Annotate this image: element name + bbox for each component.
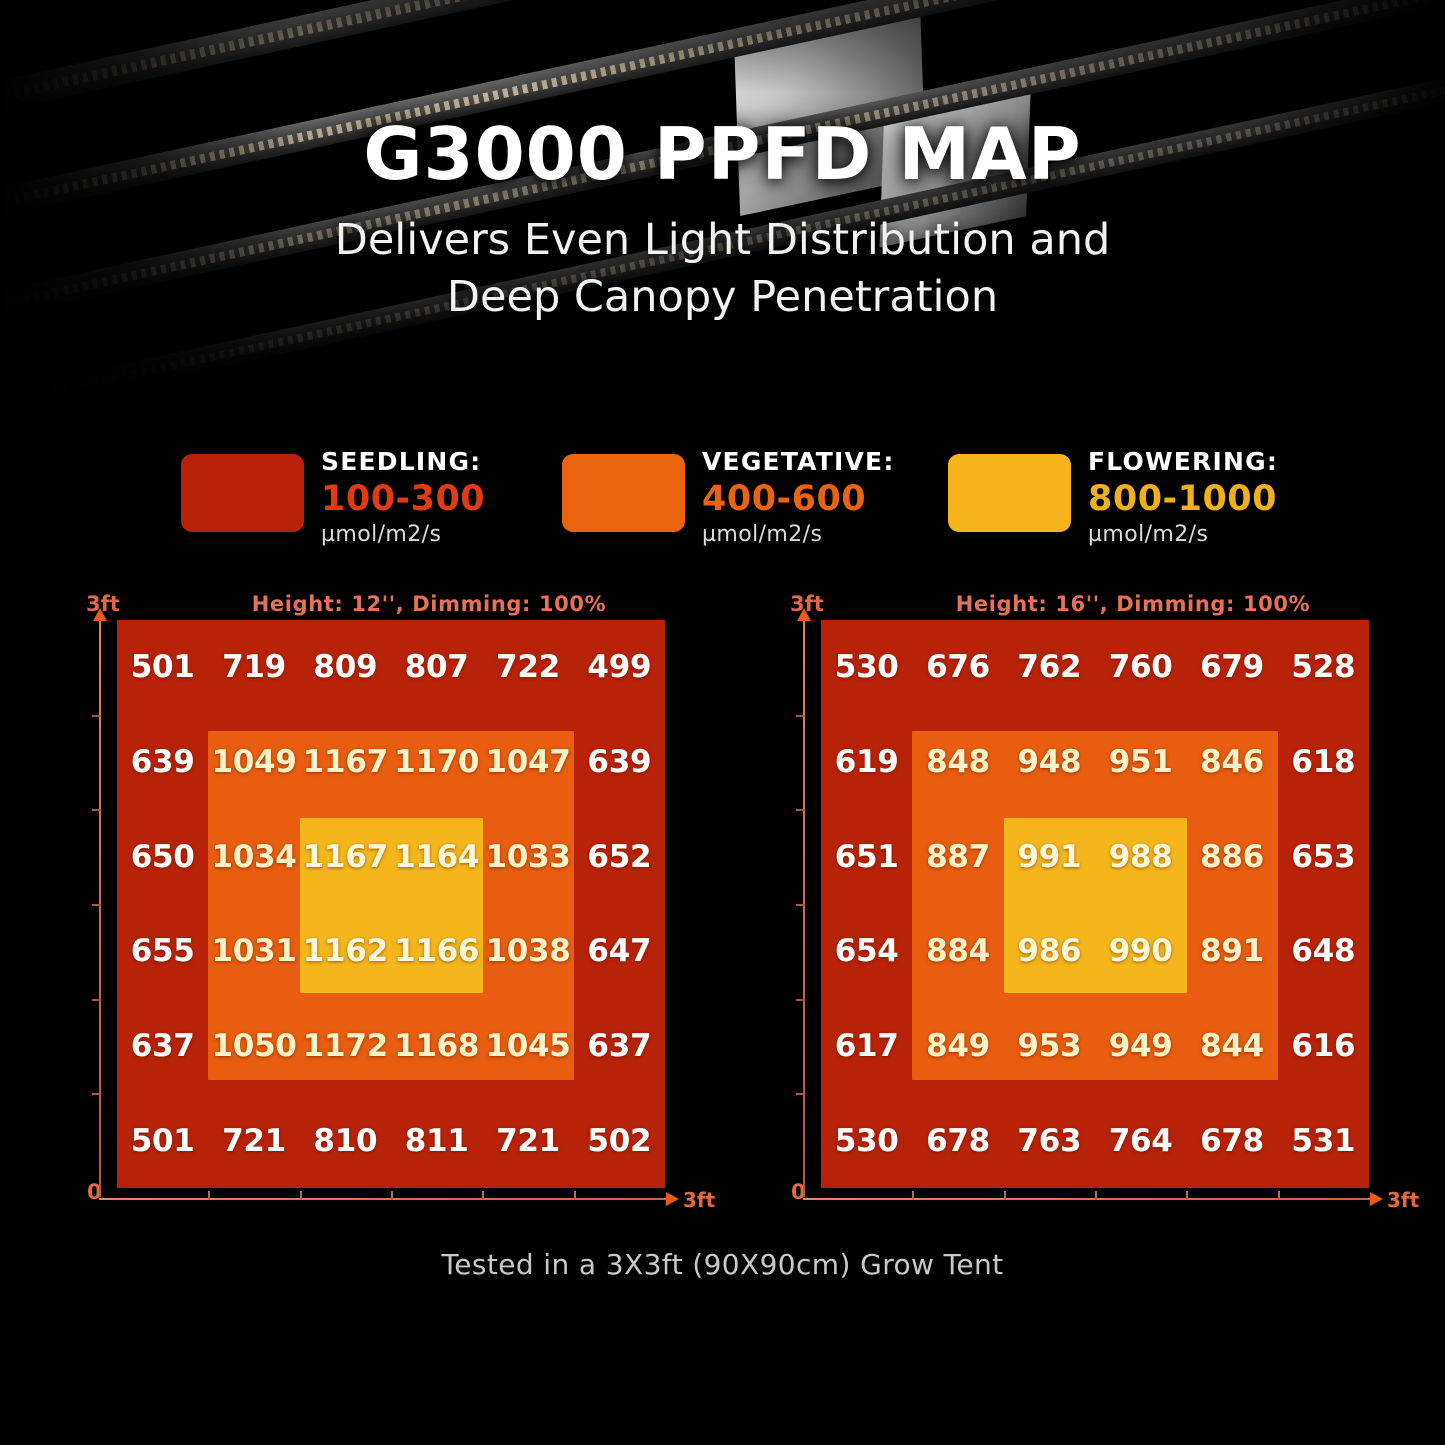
heatmap-cell: 762 [1004,620,1095,715]
y-axis-tick [92,999,101,1001]
heatmap-cell: 891 [1186,904,1277,999]
ppfd-map-12in: Height: 12'', Dimming: 100% 3ft 0 3ft 50… [86,592,726,1237]
ppfd-map-16in: Height: 16'', Dimming: 100% 3ft 0 3ft 53… [790,592,1430,1237]
heatmap-cell: 1164 [391,809,482,904]
x-axis-line [99,1198,672,1200]
legend-item-seedling: SEEDLING: 100-300 µmol/m2/s [181,449,485,541]
y-axis-line [803,619,805,1197]
heatmap-cell: 637 [574,999,665,1094]
x-axis-tick [1004,1191,1006,1200]
legend-stage-label: VEGETATIVE: [702,449,895,474]
heatmap-cell: 655 [117,904,208,999]
heatmap-cell: 679 [1186,620,1277,715]
heatmap-cell: 678 [912,1093,1003,1188]
heatmap-cell: 1049 [208,715,299,810]
heatmap-cell: 528 [1278,620,1369,715]
legend-unit-label: µmol/m2/s [321,524,485,546]
heatmap-cell: 1050 [208,999,299,1094]
heatmap-cell: 531 [1278,1093,1369,1188]
x-axis-tick [574,1191,576,1200]
heatmap-cell: 1167 [300,715,391,810]
x-axis-tick [300,1191,302,1200]
title-block: G3000 PPFD MAP Delivers Even Light Distr… [0,118,1445,326]
x-axis-tick [482,1191,484,1200]
heatmap-cell: 721 [208,1093,299,1188]
heatmap-cell: 651 [821,809,912,904]
heatmap-cell: 846 [1186,715,1277,810]
legend-unit-label: µmol/m2/s [702,524,895,546]
heatmap-cell: 654 [821,904,912,999]
heatmap-cell: 617 [821,999,912,1094]
page-subtitle: Delivers Even Light Distribution and Dee… [0,212,1445,326]
legend-text-seedling: SEEDLING: 100-300 µmol/m2/s [321,449,485,546]
heatmap-cell: 953 [1004,999,1095,1094]
heatmap-grid: 5017198098077224996391049116711701047639… [117,620,665,1188]
heatmap-cell: 1168 [391,999,482,1094]
legend-item-flowering: FLOWERING: 800-1000 µmol/m2/s [948,449,1278,541]
heatmap-cell: 1170 [391,715,482,810]
x-axis-line [803,1198,1376,1200]
heatmap-cell: 619 [821,715,912,810]
heatmap-cell: 1033 [482,809,573,904]
legend-swatch-vegetative [562,454,685,532]
heatmap-cell: 719 [208,620,299,715]
x-axis-arrow-icon [1370,1192,1383,1206]
y-axis-tick [92,809,101,811]
map-caption: Height: 12'', Dimming: 100% [134,592,724,616]
legend-item-vegetative: VEGETATIVE: 400-600 µmol/m2/s [562,449,895,541]
heatmap-cells: 5017198098077224996391049116711701047639… [117,620,665,1188]
heatmap-cell: 676 [912,620,1003,715]
y-axis-tick [796,904,805,906]
heatmap-cell: 1162 [300,904,391,999]
heatmap-cell: 1172 [300,999,391,1094]
heatmap-cell: 988 [1095,809,1186,904]
heatmap-cell: 811 [391,1093,482,1188]
heatmap-cell: 1038 [482,904,573,999]
legend-text-vegetative: VEGETATIVE: 400-600 µmol/m2/s [702,449,895,546]
heatmap-cell: 652 [574,809,665,904]
footer-note: Tested in a 3X3ft (90X90cm) Grow Tent [0,1248,1445,1281]
heatmap-cell: 530 [821,1093,912,1188]
heatmap-cell: 618 [1278,715,1369,810]
heatmap-cell: 807 [391,620,482,715]
legend-range-value: 400-600 [702,480,895,519]
heatmap-cell: 884 [912,904,1003,999]
heatmap-cell: 678 [1186,1093,1277,1188]
heatmap-cell: 648 [1278,904,1369,999]
subtitle-line-2: Deep Canopy Penetration [0,269,1445,326]
heatmap-cell: 639 [117,715,208,810]
heatmap-cell: 647 [574,904,665,999]
heatmap-cell: 637 [117,999,208,1094]
map-caption: Height: 16'', Dimming: 100% [838,592,1428,616]
heatmap-cell: 650 [117,809,208,904]
heatmap-grid: 5306767627606795286198489489518466186518… [821,620,1369,1188]
heatmap-cell: 722 [482,620,573,715]
heatmap-cell: 1166 [391,904,482,999]
heatmap-cell: 639 [574,715,665,810]
legend-stage-label: FLOWERING: [1088,449,1278,474]
heatmap-cell: 760 [1095,620,1186,715]
heatmap-cell: 886 [1186,809,1277,904]
x-axis-tick [208,1191,210,1200]
heatmap-cell: 949 [1095,999,1186,1094]
page-title: G3000 PPFD MAP [0,118,1445,190]
heatmap-cell: 991 [1004,809,1095,904]
y-axis-arrow-icon [93,608,107,621]
y-axis-tick [796,999,805,1001]
legend-stage-label: SEEDLING: [321,449,485,474]
heatmap-cell: 986 [1004,904,1095,999]
y-axis-tick [92,904,101,906]
x-axis-tick [1095,1191,1097,1200]
heatmap-cell: 887 [912,809,1003,904]
heatmap-cell: 764 [1095,1093,1186,1188]
legend-unit-label: µmol/m2/s [1088,524,1278,546]
heatmap-cell: 502 [574,1093,665,1188]
legend-range-value: 100-300 [321,480,485,519]
y-axis-arrow-icon [797,608,811,621]
x-axis-tick [391,1191,393,1200]
heatmap-cells: 5306767627606795286198489489518466186518… [821,620,1369,1188]
heatmap-cell: 653 [1278,809,1369,904]
heatmap-cell: 951 [1095,715,1186,810]
x-axis-max-label: 3ft [683,1188,715,1212]
x-axis-max-label: 3ft [1387,1188,1419,1212]
y-axis-tick [796,809,805,811]
heatmap-cell: 809 [300,620,391,715]
heatmap-cell: 1045 [482,999,573,1094]
y-axis-tick [92,1093,101,1095]
heatmap-cell: 721 [482,1093,573,1188]
heatmap-cell: 1047 [482,715,573,810]
heatmap-cell: 1034 [208,809,299,904]
ppfd-legend: SEEDLING: 100-300 µmol/m2/s VEGETATIVE: … [181,449,1281,541]
x-axis-tick [1278,1191,1280,1200]
heatmap-cell: 499 [574,620,665,715]
heatmap-cell: 948 [1004,715,1095,810]
heatmap-cell: 1031 [208,904,299,999]
heatmap-cell: 763 [1004,1093,1095,1188]
legend-range-value: 800-1000 [1088,480,1278,519]
heatmap-cell: 1167 [300,809,391,904]
ppfd-map-container: Height: 12'', Dimming: 100% 3ft 0 3ft 50… [0,592,1445,1237]
heatmap-cell: 616 [1278,999,1369,1094]
x-axis-arrow-icon [666,1192,679,1206]
x-axis-tick [912,1191,914,1200]
heatmap-cell: 530 [821,620,912,715]
y-axis-tick [92,715,101,717]
y-axis-tick [796,715,805,717]
heatmap-cell: 501 [117,1093,208,1188]
heatmap-cell: 990 [1095,904,1186,999]
heatmap-cell: 849 [912,999,1003,1094]
x-axis-tick [1186,1191,1188,1200]
legend-text-flowering: FLOWERING: 800-1000 µmol/m2/s [1088,449,1278,546]
heatmap-cell: 844 [1186,999,1277,1094]
y-axis-tick [796,1093,805,1095]
heatmap-cell: 501 [117,620,208,715]
legend-swatch-flowering [948,454,1071,532]
legend-swatch-seedling [181,454,304,532]
heatmap-cell: 810 [300,1093,391,1188]
y-axis-line [99,619,101,1197]
heatmap-cell: 848 [912,715,1003,810]
subtitle-line-1: Delivers Even Light Distribution and [0,212,1445,269]
